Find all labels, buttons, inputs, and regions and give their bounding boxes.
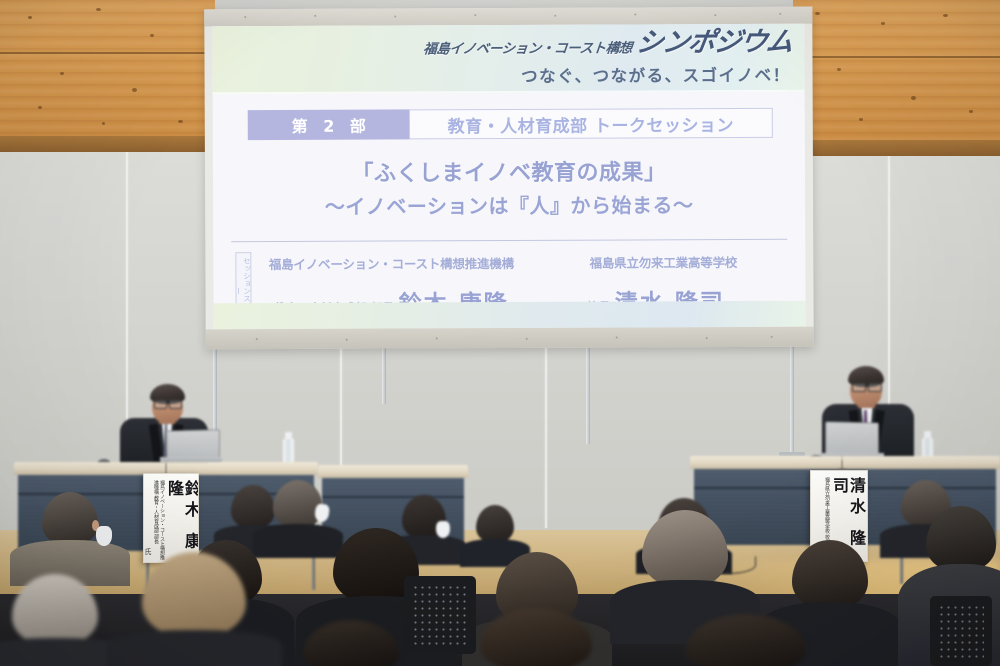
symposium-banner: 福島イノベーション・コースト構想 シンポジウム つなぐ、つながる、スゴイノベ！ … xyxy=(204,7,813,350)
projected-slide: 福島イノベーション・コースト構想 シンポジウム つなぐ、つながる、スゴイノベ！ … xyxy=(212,24,805,330)
slide-subtitle: 〜イノベーションは『人』から始まる〜 xyxy=(213,189,805,221)
slide-speaker-org: 福島イノベーション・コースト構想推進機構 xyxy=(261,253,521,273)
session-title-box: 教育・人材育成部 トークセッション xyxy=(410,108,773,140)
bottle-right-cap xyxy=(924,431,931,438)
symposium-photo-scene: 福島イノベーション・コースト構想 シンポジウム つなぐ、つながる、スゴイノベ！ … xyxy=(0,0,1000,666)
brand-main-text: シンポジウム xyxy=(634,30,794,56)
banner-hem-bottom xyxy=(206,327,814,350)
audience-member xyxy=(256,620,446,666)
audience-member xyxy=(436,608,636,666)
wall-seam xyxy=(545,348,547,528)
bottle-left-cap xyxy=(285,432,292,439)
slide-divider-rule xyxy=(231,239,787,242)
wood-ceiling-panel-left xyxy=(0,0,215,150)
presenter-right-glasses xyxy=(868,383,882,392)
part-number-tab: 第 2 部 xyxy=(248,109,410,140)
session-header-row: 第 2 部 教育・人材育成部 トークセッション xyxy=(248,108,773,140)
chair xyxy=(930,596,992,666)
audience-member xyxy=(646,614,846,666)
banner-tagline: つなぐ、つながる、スゴイノベ！ xyxy=(521,62,791,87)
symposium-logo: 福島イノベーション・コースト構想 シンポジウム xyxy=(424,30,793,57)
ceiling-fascia-left xyxy=(0,136,215,152)
laptop-right-screen xyxy=(825,421,879,456)
ceiling-fascia-right xyxy=(793,140,1000,156)
wood-ceiling-panel-right xyxy=(793,0,1000,150)
screen-stand-post xyxy=(586,344,590,444)
presenter-left-glasses xyxy=(169,400,182,409)
screen-stand-post xyxy=(382,344,386,404)
slide-main-title: 「ふくしまイノベ教育の成果」 xyxy=(213,154,805,189)
screen-stand-post xyxy=(790,344,794,454)
presenter-left-glasses xyxy=(154,400,167,409)
slide-footer-band xyxy=(214,301,806,330)
presenter-right-glasses xyxy=(852,383,866,392)
slide-speaker-org: 福島県立勿来工業高等学校 xyxy=(533,252,793,272)
brand-kicker-text: 福島イノベーション・コースト構想 xyxy=(423,36,634,57)
